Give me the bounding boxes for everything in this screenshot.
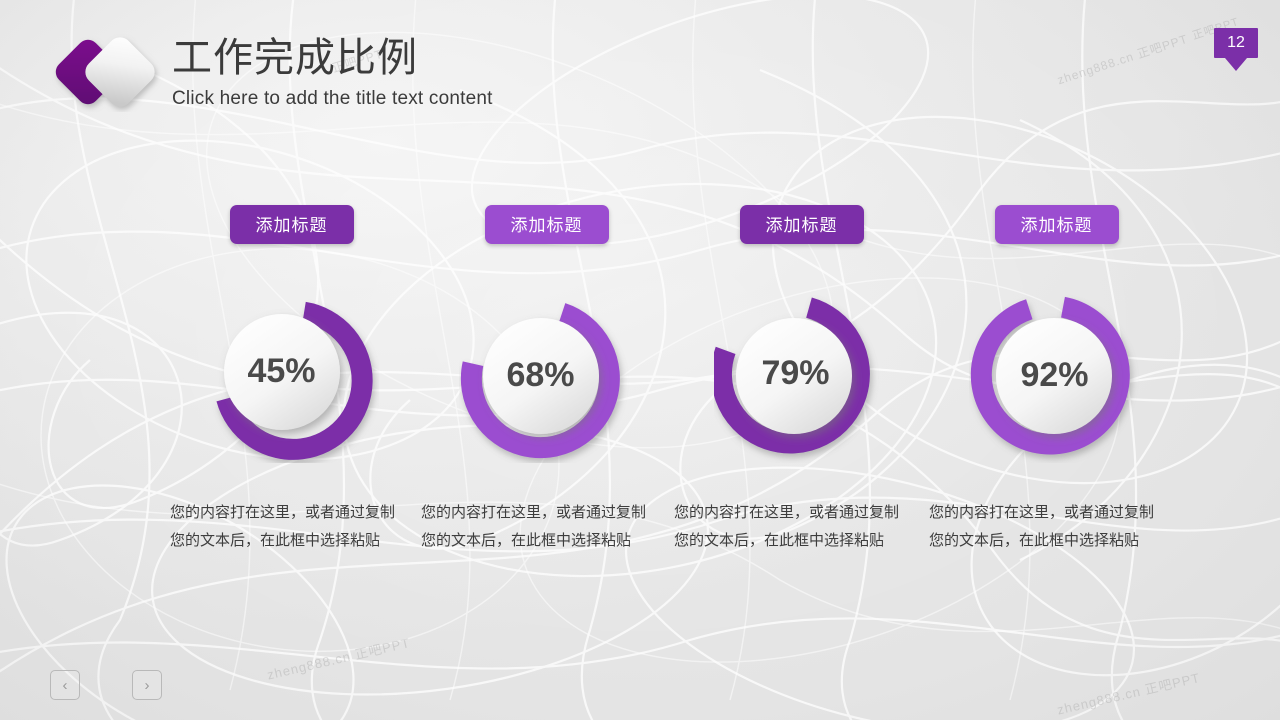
double-diamond-logo-icon bbox=[48, 32, 176, 112]
metric-columns: 添加标题 bbox=[164, 205, 1184, 555]
donut-chart: 92% bbox=[969, 288, 1144, 463]
donut-percent-label: 45% bbox=[194, 284, 369, 459]
donut-percent-label: 79% bbox=[708, 286, 883, 461]
page-number-badge: 12 bbox=[1214, 28, 1258, 71]
column-badge[interactable]: 添加标题 bbox=[740, 205, 864, 244]
slide-navigation: ‹ › bbox=[50, 670, 162, 700]
slide-header: 工作完成比例 Click here to add the title text … bbox=[0, 0, 1280, 130]
metric-column: 添加标题 bbox=[419, 205, 674, 555]
chevron-left-icon: ‹ bbox=[63, 677, 68, 694]
chevron-right-icon: › bbox=[145, 677, 150, 694]
donut-percent-label: 92% bbox=[967, 288, 1142, 463]
donut-chart: 79% bbox=[714, 288, 889, 463]
donut-chart: 68% bbox=[459, 288, 634, 463]
donut-percent-label: 68% bbox=[453, 288, 628, 463]
metric-column: 添加标题 bbox=[674, 205, 929, 555]
column-body-text: 您的内容打在这里，或者通过复制您的文本后，在此框中选择粘贴 bbox=[421, 499, 649, 555]
metric-column: 添加标题 bbox=[164, 205, 419, 555]
slide-canvas: zheng888.cn 正吧PPT 正吧PPT zheng888.cn 正吧PP… bbox=[0, 0, 1280, 720]
title-block: 工作完成比例 Click here to add the title text … bbox=[172, 36, 493, 110]
column-badge[interactable]: 添加标题 bbox=[230, 205, 354, 244]
next-slide-button[interactable]: › bbox=[132, 670, 162, 700]
column-body-text: 您的内容打在这里，或者通过复制您的文本后，在此框中选择粘贴 bbox=[674, 499, 902, 555]
page-number-pin-tip bbox=[1225, 58, 1247, 71]
metric-column: 添加标题 bbox=[929, 205, 1184, 555]
page-title: 工作完成比例 bbox=[172, 36, 493, 80]
column-badge[interactable]: 添加标题 bbox=[485, 205, 609, 244]
prev-slide-button[interactable]: ‹ bbox=[50, 670, 80, 700]
column-badge[interactable]: 添加标题 bbox=[995, 205, 1119, 244]
donut-chart: 45% bbox=[204, 288, 379, 463]
column-body-text: 您的内容打在这里，或者通过复制您的文本后，在此框中选择粘贴 bbox=[170, 499, 398, 555]
column-body-text: 您的内容打在这里，或者通过复制您的文本后，在此框中选择粘贴 bbox=[929, 499, 1157, 555]
page-number-value: 12 bbox=[1214, 28, 1258, 58]
page-subtitle: Click here to add the title text content bbox=[172, 88, 493, 110]
